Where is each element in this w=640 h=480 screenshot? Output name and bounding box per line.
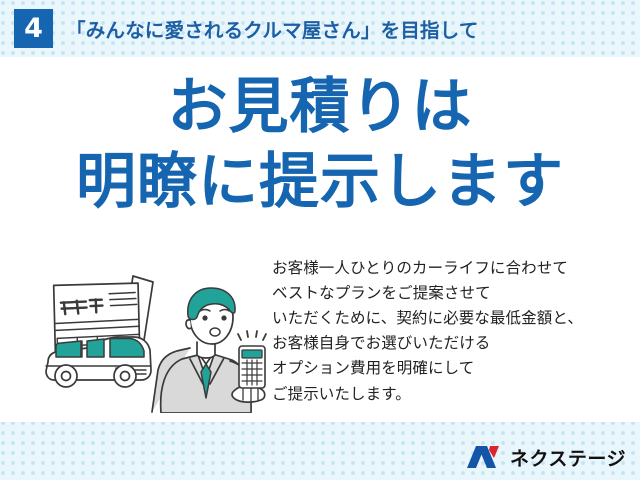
promo-slide: 4 「みんなに愛されるクルマ屋さん」を目指して お見積りは 明瞭に提示します お… xyxy=(0,0,640,480)
calculator xyxy=(239,346,265,388)
body-copy-line: いただくために、契約に必要な最低金額と、 xyxy=(272,306,632,331)
header-bar: 4 「みんなに愛されるクルマ屋さん」を目指して xyxy=(0,0,640,57)
sparkle-icon xyxy=(238,331,266,340)
illustration xyxy=(30,258,275,413)
body-copy-line: オプション費用を明確にして xyxy=(272,356,632,381)
headline-block: お見積りは 明瞭に提示します xyxy=(0,75,640,215)
header-title: 「みんなに愛されるクルマ屋さん」を目指して xyxy=(66,14,479,43)
document-header-rules xyxy=(109,291,137,308)
brand-footer: ネクステージ xyxy=(466,442,626,472)
salesman-mouth xyxy=(210,328,220,336)
body-copy-line: ベストなプランをご提案させて xyxy=(272,281,632,306)
salesman xyxy=(152,288,266,413)
body-copy-line: ご提示いたします。 xyxy=(272,382,632,407)
brand-name: ネクステージ xyxy=(510,444,626,471)
step-number-badge: 4 xyxy=(14,9,53,48)
van xyxy=(46,337,151,387)
illustration-svg xyxy=(30,258,275,413)
body-copy-line: お客様自身でお選びいただける xyxy=(272,331,632,356)
body-copy-line: お客様一人ひとりのカーライフに合わせて xyxy=(272,256,632,281)
body-copy-block: お客様一人ひとりのカーライフに合わせて ベストなプランをご提案させて いただくた… xyxy=(272,256,632,407)
nextage-logo-icon xyxy=(466,444,504,470)
headline-line-2: 明瞭に提示します xyxy=(0,150,640,215)
headline-line-1: お見積りは xyxy=(0,75,640,140)
